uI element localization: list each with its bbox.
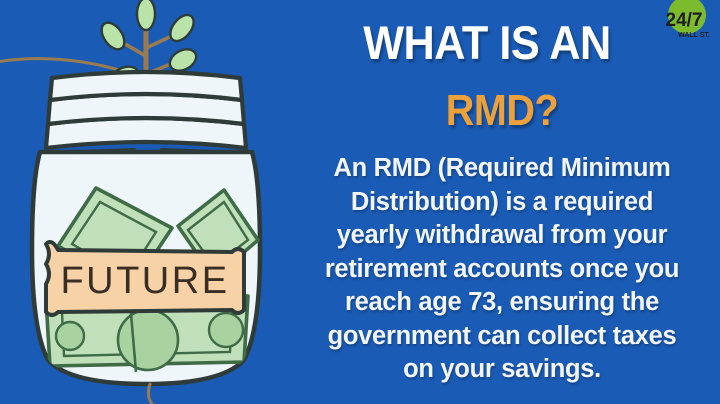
jar-thread-mark-right — [162, 150, 214, 152]
infographic-card: FUTURE 24/7 WALL ST. WHAT IS AN RMD? An … — [0, 0, 720, 404]
body-copy: An RMD (Required MinimumDistribution) is… — [298, 152, 706, 387]
leaf-top — [137, 0, 155, 30]
jar-label-text: FUTURE — [60, 260, 229, 302]
text-column: WHAT IS AN RMD? An RMD (Required Minimum… — [284, 0, 720, 404]
body-copy-line: government can collect taxes — [328, 322, 677, 350]
body-copy-line: Distribution) is a required — [351, 188, 653, 216]
stem-below-jar — [148, 384, 152, 404]
body-copy-line: on your savings. — [403, 355, 601, 383]
bill-seal-left — [56, 322, 84, 350]
headline-line-2: RMD? — [306, 88, 698, 134]
jar-lid-rim — [50, 72, 242, 100]
headline-line-1: WHAT IS AN — [300, 18, 674, 68]
savings-jar-illustration: FUTURE — [0, 0, 292, 404]
stem-left-branch — [0, 59, 126, 72]
bill-portrait-oval — [118, 310, 178, 370]
leaf-upper-left — [97, 19, 129, 54]
body-copy-line: An RMD (Required Minimum — [333, 154, 670, 182]
body-copy-line: reach age 73, ensuring the — [345, 288, 659, 316]
body-copy-line: yearly withdrawal from your — [337, 221, 668, 249]
bill-seal-right — [209, 313, 243, 347]
jar-vector-graphic: FUTURE — [0, 0, 292, 404]
jar-thread-mark-left — [78, 150, 134, 152]
leaf-upper-right — [166, 11, 199, 46]
body-copy-line: retirement accounts once you — [325, 255, 679, 283]
